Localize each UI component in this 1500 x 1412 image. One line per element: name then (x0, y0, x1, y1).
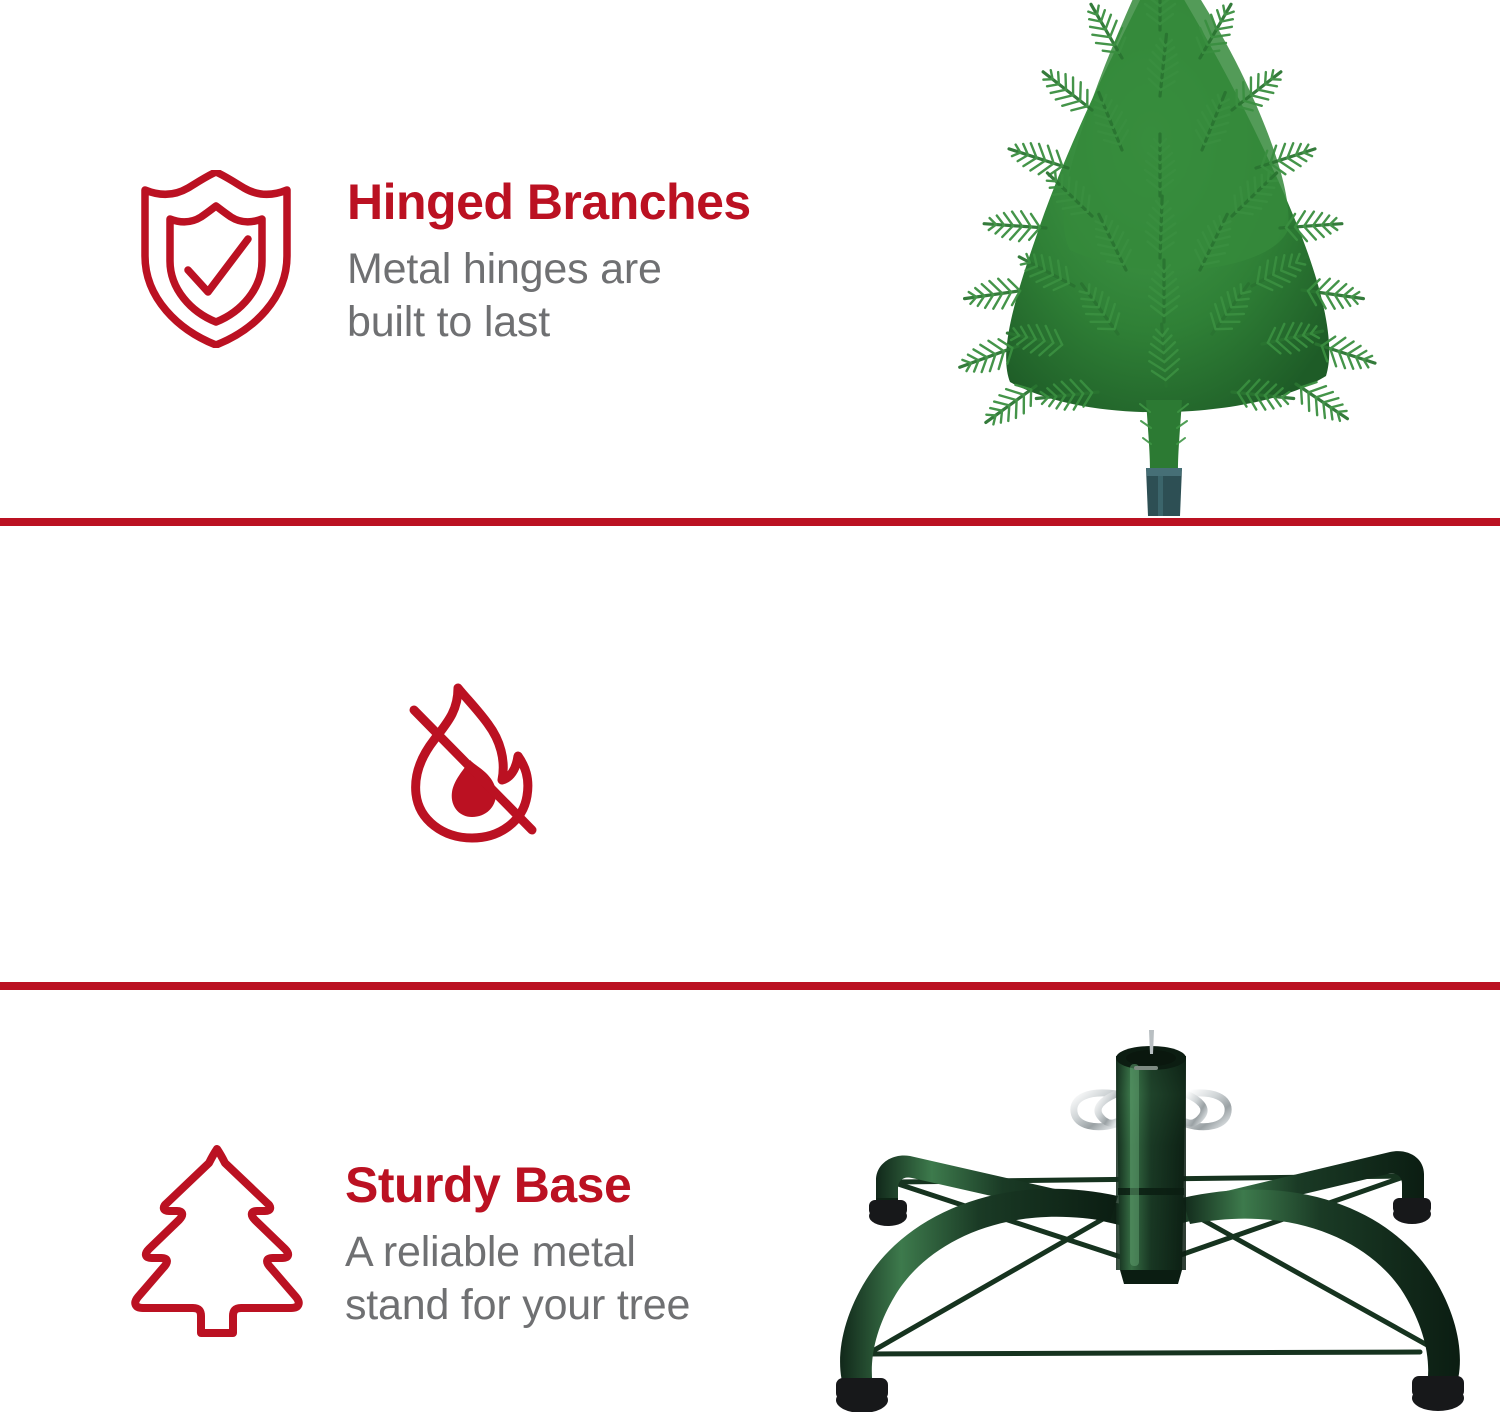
metal-tree-stand-photo (800, 1020, 1500, 1412)
christmas-tree-outline-icon (131, 1141, 303, 1341)
sturdy-base-description-line-2: stand for your tree (345, 1279, 690, 1332)
sturdy-base-description: A reliable metal stand for your tree (345, 1226, 690, 1333)
hinged-branches-description-line-2: built to last (347, 296, 751, 349)
product-feature-infographic: Hinged Branches Metal hinges are built t… (0, 0, 1500, 1412)
feature-panel-hinged-branches: Hinged Branches Metal hinges are built t… (0, 0, 1500, 518)
sturdy-base-description-line-1: A reliable metal (345, 1226, 690, 1279)
christmas-tree-top-photo (860, 0, 1500, 518)
divider-bottom (0, 982, 1500, 990)
hinged-branches-title: Hinged Branches (347, 176, 751, 229)
sturdy-base-title: Sturdy Base (345, 1159, 690, 1212)
no-flame-icon (396, 678, 548, 850)
shield-check-icon (136, 170, 296, 348)
hinged-branches-description: Metal hinges are built to last (347, 243, 751, 350)
feature-panel-pvc-tips: PVC Tips Flame-retardant and easy to flu… (0, 526, 1500, 982)
feature-panel-sturdy-base: Sturdy Base A reliable metal stand for y… (0, 990, 1500, 1412)
divider-top (0, 518, 1500, 526)
sturdy-base-text-block: Sturdy Base A reliable metal stand for y… (345, 1159, 690, 1332)
hinged-branches-description-line-1: Metal hinges are (347, 243, 751, 296)
hinged-branches-text-block: Hinged Branches Metal hinges are built t… (347, 176, 751, 349)
